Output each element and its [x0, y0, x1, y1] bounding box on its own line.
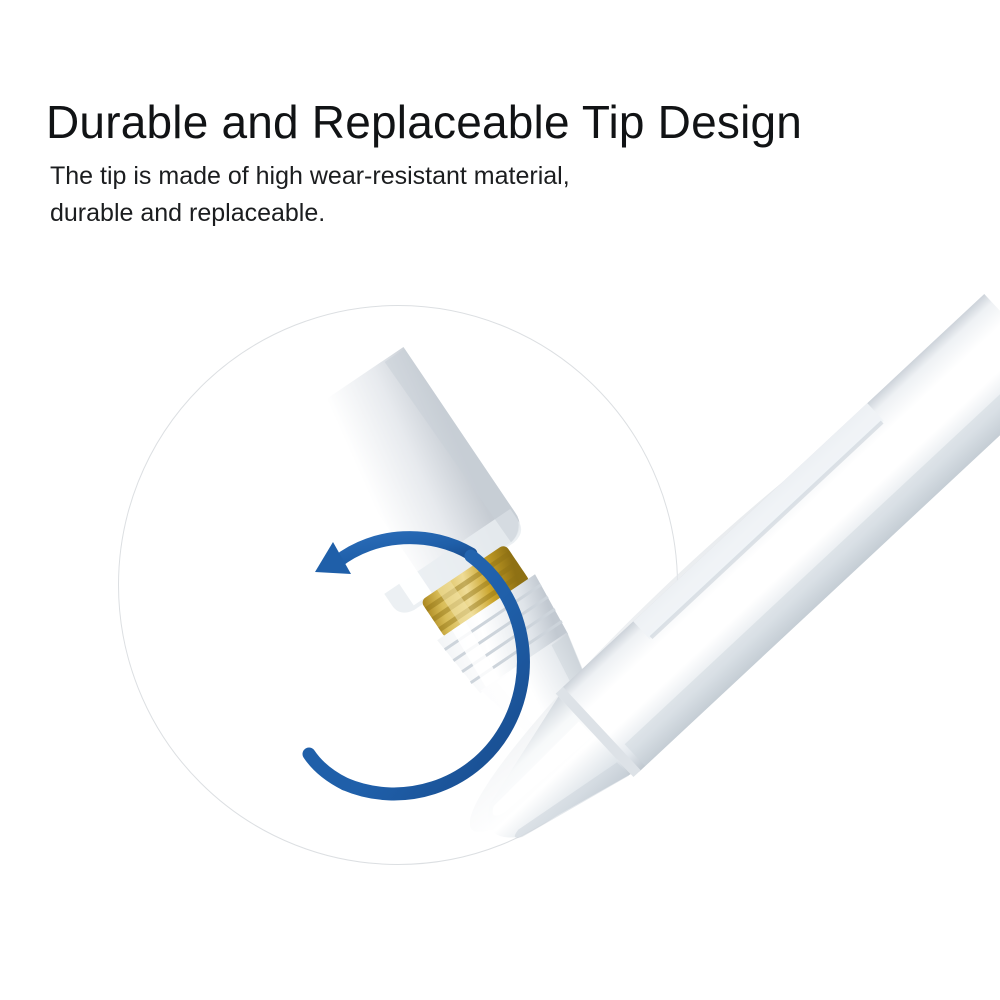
rotation-arrow-tail [309, 754, 345, 784]
product-feature-image: Durable and Replaceable Tip Design The t… [0, 0, 1000, 1000]
stylus-pen-illustration [470, 230, 1000, 970]
description-line-2: durable and replaceable. [50, 195, 810, 232]
stylus-pen-hero [470, 230, 1000, 970]
description-text: The tip is made of high wear-resistant m… [50, 158, 810, 232]
description-line-1: The tip is made of high wear-resistant m… [50, 158, 810, 195]
page-title: Durable and Replaceable Tip Design [46, 93, 966, 151]
pen-body-group [470, 294, 1000, 873]
